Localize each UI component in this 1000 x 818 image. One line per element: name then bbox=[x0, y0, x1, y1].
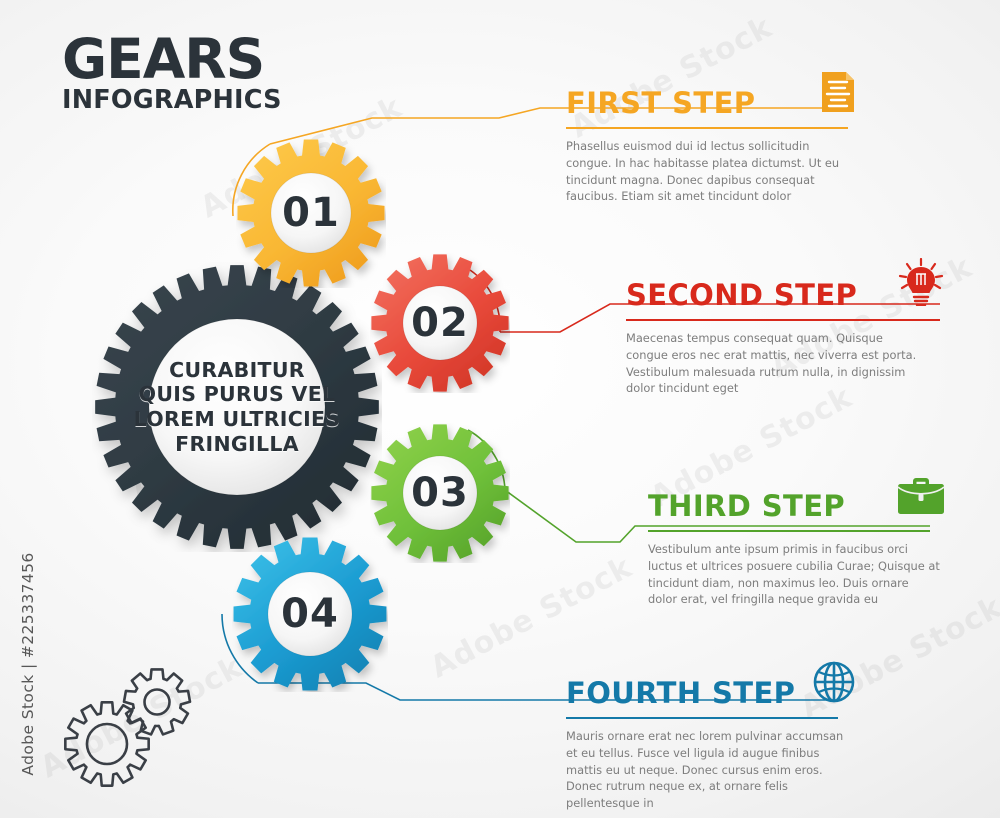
step-block-03[interactable]: THIRD STEP Vestibulum ante ipsum primis … bbox=[648, 475, 946, 608]
gear-outline-icon bbox=[65, 702, 148, 785]
step-block-02[interactable]: SECOND STEP bbox=[626, 258, 944, 397]
step-block-01[interactable]: FIRST STEP Phasellus euismod dui id lect… bbox=[566, 70, 856, 205]
gear-number-04: 04 bbox=[232, 536, 388, 692]
gear-step-04[interactable]: 04 bbox=[232, 536, 388, 692]
page-title: GEARS INFOGRAPHICS bbox=[62, 34, 282, 113]
decorative-gears bbox=[52, 662, 212, 791]
lightbulb-icon bbox=[898, 258, 944, 310]
step-title-04: FOURTH STEP bbox=[566, 679, 795, 708]
step-block-04[interactable]: FOURTH STEP Mauris ornare erat nec lorem… bbox=[566, 660, 856, 812]
gear-number-01: 01 bbox=[236, 138, 386, 288]
step-body-03: Vestibulum ante ipsum primis in faucibus… bbox=[648, 541, 940, 608]
gear-number-03: 03 bbox=[370, 423, 510, 563]
step-body-01: Phasellus euismod dui id lectus sollicit… bbox=[566, 138, 854, 205]
infographic-canvas: Adobe Stock Adobe Stock Adobe Stock Adob… bbox=[0, 0, 1000, 818]
gear-step-01[interactable]: 01 bbox=[236, 138, 386, 288]
gear-number-02: 02 bbox=[370, 253, 510, 393]
gear-center[interactable]: CURABITUR QUIS PURUS VEL LOREM ULTRICIES… bbox=[92, 262, 382, 552]
step-rule-04 bbox=[566, 717, 838, 719]
briefcase-icon bbox=[896, 475, 946, 521]
title-sub: INFOGRAPHICS bbox=[62, 88, 282, 114]
center-gear-label: CURABITUR QUIS PURUS VEL LOREM ULTRICIES… bbox=[92, 262, 382, 552]
globe-icon bbox=[812, 660, 856, 708]
title-main: GEARS bbox=[62, 34, 282, 85]
step-rule-03 bbox=[648, 530, 930, 532]
document-icon bbox=[820, 70, 856, 118]
step-title-03: THIRD STEP bbox=[648, 492, 845, 521]
gear-outline-small-icon bbox=[124, 669, 190, 734]
step-rule-01 bbox=[566, 127, 848, 129]
watermark-side: Adobe Stock | #225337456 bbox=[19, 529, 37, 799]
step-title-01: FIRST STEP bbox=[566, 89, 755, 118]
step-rule-02 bbox=[626, 319, 940, 321]
step-body-02: Maecenas tempus consequat quam. Quisque … bbox=[626, 330, 926, 397]
step-body-04: Mauris ornare erat nec lorem pulvinar ac… bbox=[566, 728, 851, 812]
gear-step-03[interactable]: 03 bbox=[370, 423, 510, 563]
gear-step-02[interactable]: 02 bbox=[370, 253, 510, 393]
step-title-02: SECOND STEP bbox=[626, 281, 857, 310]
